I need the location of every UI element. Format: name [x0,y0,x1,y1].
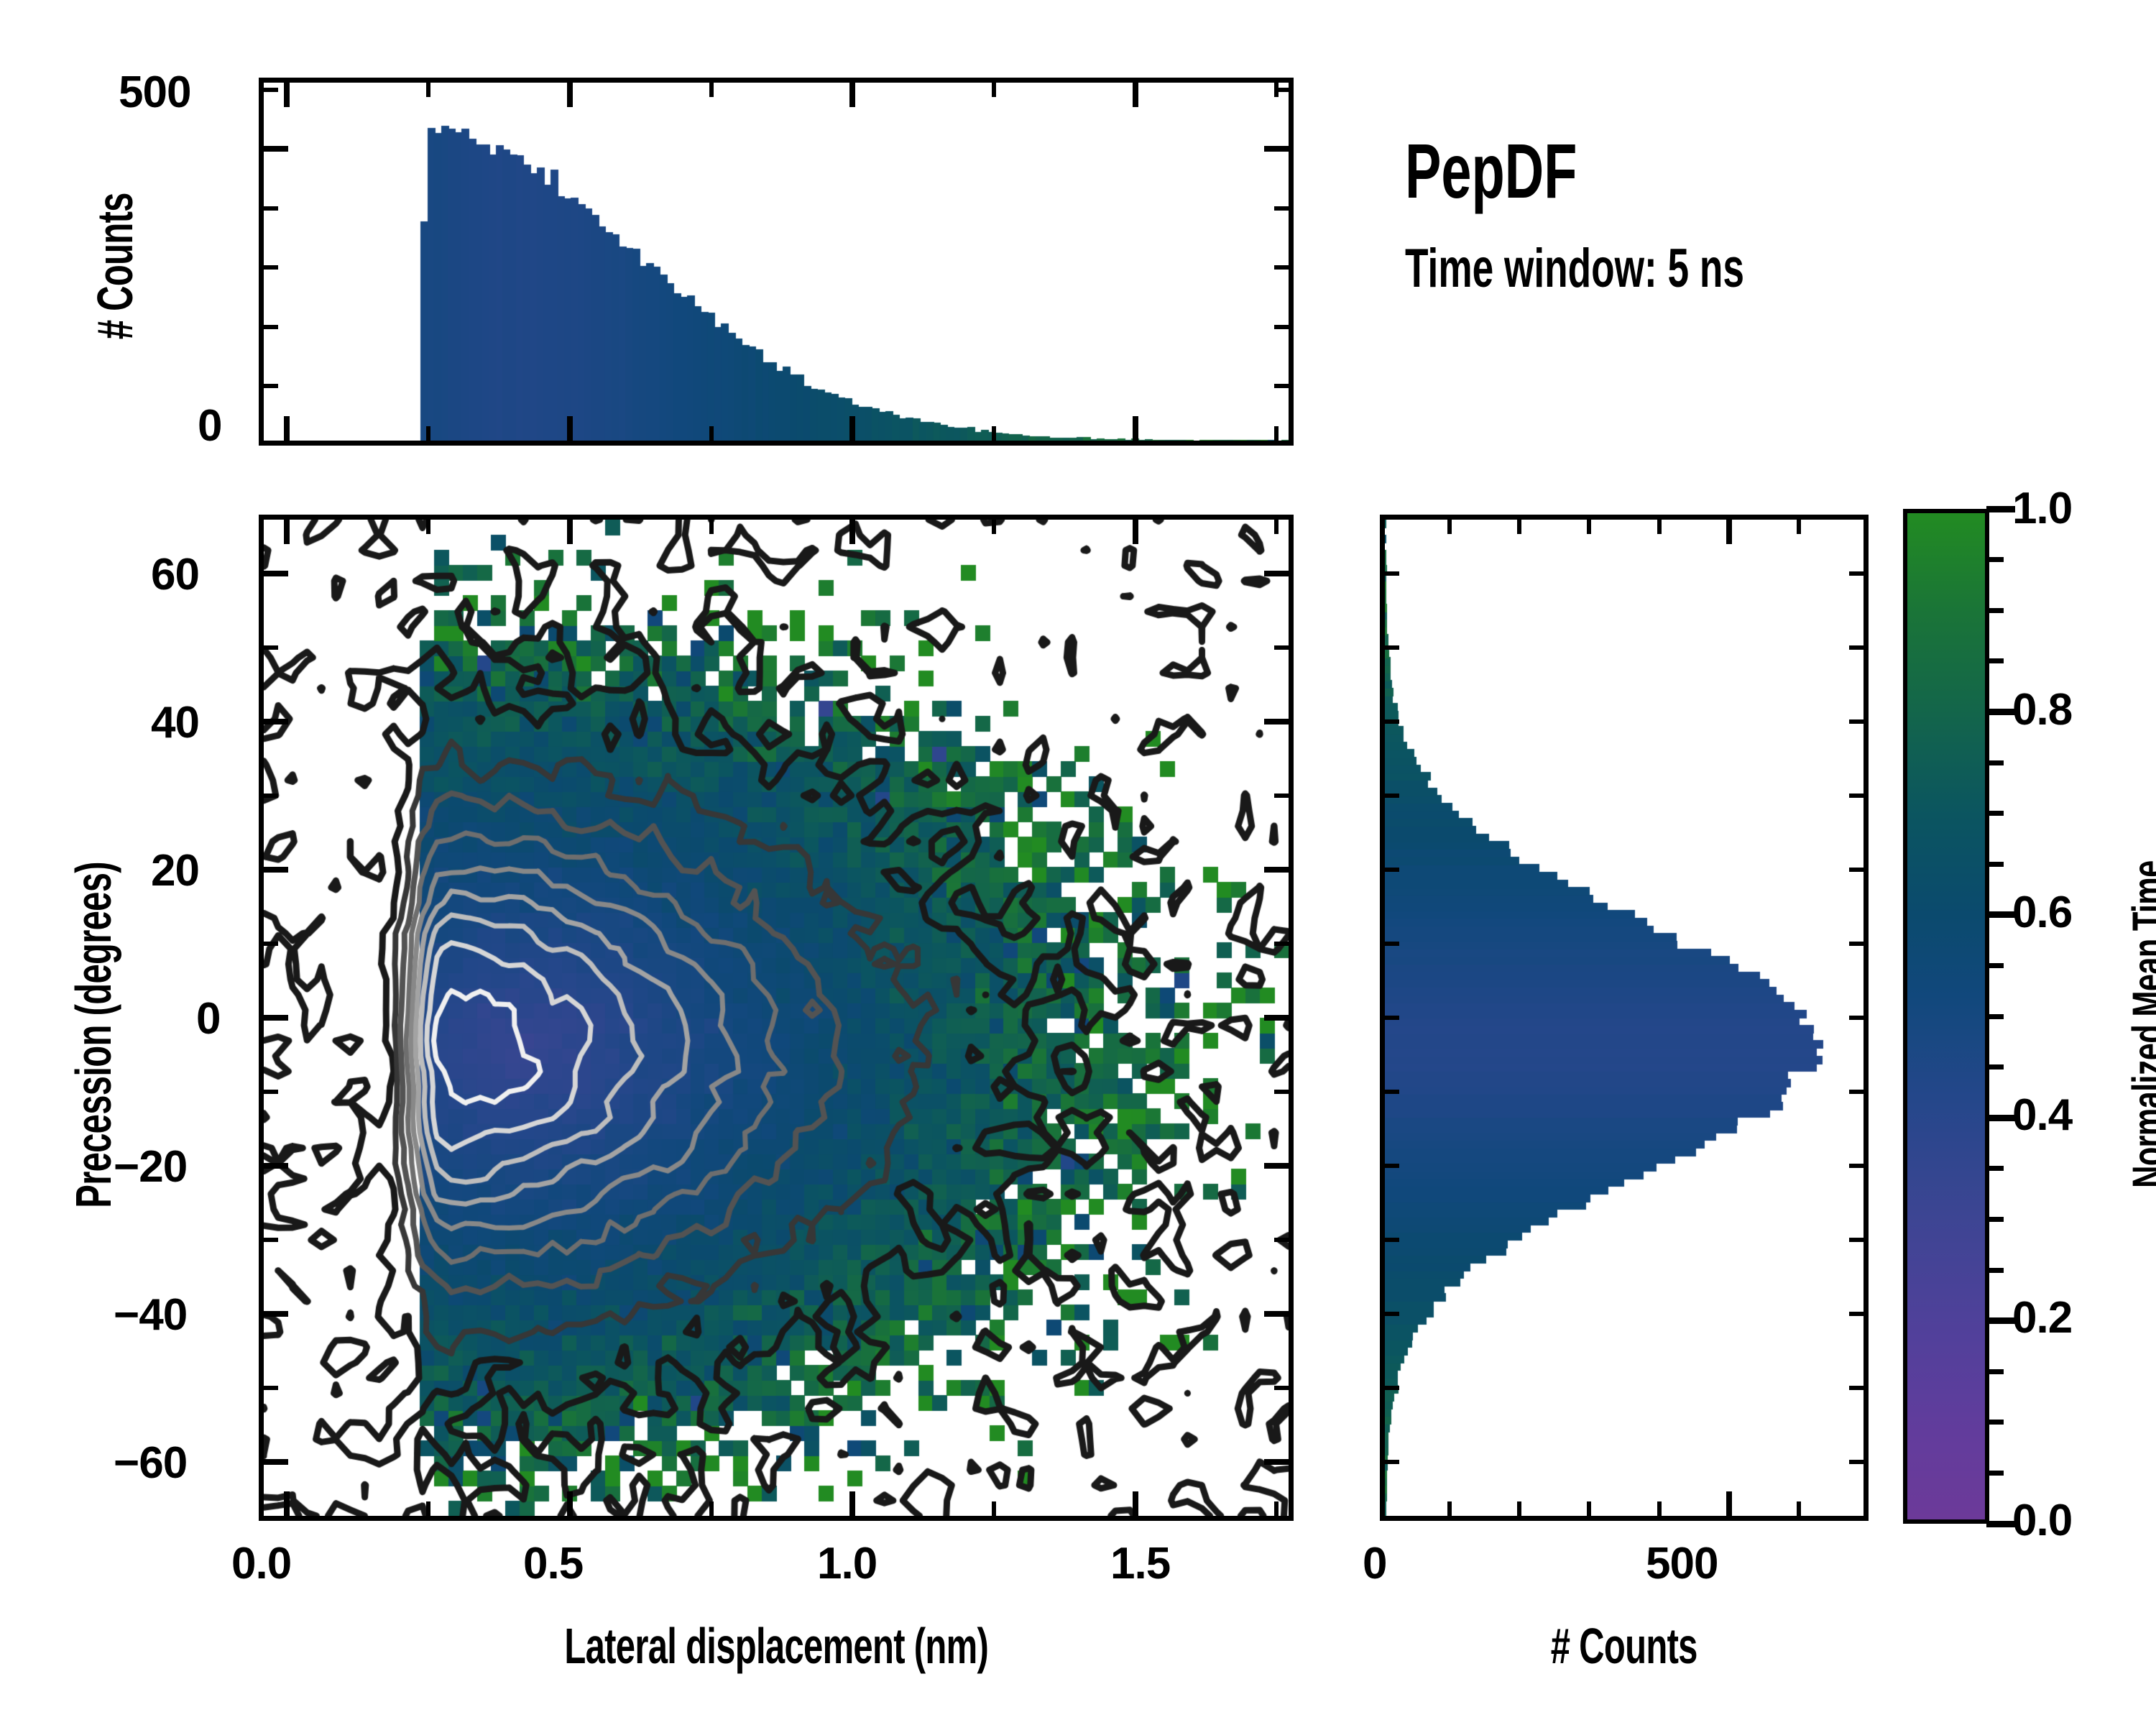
top-marginal-histogram-axes [259,78,1294,446]
main-ytick-right [1264,1311,1289,1317]
right-marginal-histogram-plot [1385,520,1864,1516]
main-ytick-right [1264,719,1289,724]
colorbar-major-tick [1986,1521,2015,1527]
main-ytick-right [1264,1163,1289,1169]
main-ytick-left [264,1163,288,1169]
joint-distribution-figure: 500 0 # Counts 60 40 20 0 −20 −40 −60 Pr… [0,0,2156,1725]
right-hist-xtick-bottom [1587,1501,1591,1516]
top-hist-ytick-right [1274,206,1289,211]
colorbar-major-tick [1986,506,2015,512]
colorbar-major-tick [1986,1115,2015,1121]
right-hist-ytick-right [1849,1386,1864,1390]
main-xtick-top [709,520,714,534]
colorbar-major-tick [1986,709,2015,715]
right-hist-ytick-right [1849,571,1864,576]
main-ytick-left [264,793,278,798]
main-ytick-left [264,1015,288,1021]
right-hist-xtick-0: 0 [1363,1538,1386,1589]
right-hist-ytick-left [1385,868,1399,872]
right-hist-xtick-top [1587,520,1591,534]
colorbar-minor-tick [1986,1369,2004,1374]
right-hist-ytick-left [1385,1016,1399,1020]
main-ytick-right [1274,942,1289,946]
main-xtick-bottom [1274,1501,1279,1516]
main-ytick-right [1274,645,1289,650]
top-hist-xtick-top [849,83,855,107]
top-hist-xtick-bottom [992,426,996,441]
main-xtick-top [567,520,573,544]
main-ytick-right [1264,571,1289,576]
top-hist-ytick-left [264,206,278,211]
top-hist-xtick-top [992,83,996,97]
colorbar-axes [1903,509,1989,1524]
top-hist-xtick-top [284,83,290,107]
main-xtick-bottom [849,1491,855,1516]
main-joint-plot-axes [259,515,1294,1521]
main-ytick-neg40: −40 [114,1289,187,1340]
colorbar-gradient [1907,513,1985,1519]
main-ylabel: Precession (degrees) [65,676,122,1394]
colorbar-minor-tick [1986,1268,2004,1273]
right-hist-xtick-top [1726,520,1732,544]
figure-title: PepDF [1405,126,1651,216]
main-xtick-0.5: 0.5 [523,1538,583,1589]
main-ytick-neg20: −20 [114,1141,187,1192]
right-hist-ytick-right [1849,1238,1864,1242]
figure-subtitle: Time window: 5 ns [1405,237,1889,300]
top-hist-xtick-bottom [849,416,855,441]
colorbar-minor-tick [1986,963,2004,968]
main-xtick-top [284,520,290,544]
top-hist-ylabel: # Counts [86,122,144,410]
top-hist-xtick-top [709,83,714,97]
main-ytick-left [264,867,288,873]
main-xtick-top [426,520,430,534]
colorbar-tick-0.2: 0.2 [2012,1292,2072,1343]
colorbar-tick-1.0: 1.0 [2012,483,2072,534]
top-hist-xtick-bottom [709,426,714,441]
right-hist-ytick-right [1849,942,1864,946]
right-hist-ytick-left [1385,645,1399,650]
main-ytick-left [264,1459,288,1465]
top-hist-ytick-0: 0 [198,400,221,451]
right-hist-ytick-left [1385,1460,1399,1464]
colorbar-tick-0.6: 0.6 [2012,887,2072,938]
colorbar-minor-tick [1986,1014,2004,1019]
right-hist-ytick-left [1385,1238,1399,1242]
main-xtick-top [1133,520,1138,544]
main-ytick-right [1274,1238,1289,1242]
right-hist-ytick-left [1385,1386,1399,1390]
colorbar-minor-tick [1986,760,2004,765]
top-hist-ytick-right [1274,325,1289,329]
right-hist-xtick-top [1657,520,1662,534]
right-hist-xtick-bottom [1726,1491,1732,1516]
main-ytick-60: 60 [151,549,199,600]
right-hist-ytick-right [1849,1312,1864,1316]
main-ytick-left [264,1238,278,1242]
colorbar-minor-tick [1986,608,2004,613]
colorbar-minor-tick [1986,862,2004,867]
colorbar-minor-tick [1986,1064,2004,1069]
top-hist-ytick-right [1274,265,1289,270]
top-hist-xtick-top [1133,83,1138,107]
main-ytick-right [1274,1386,1289,1390]
right-hist-ytick-right [1849,1460,1864,1464]
top-hist-ytick-right [1264,146,1289,152]
main-ytick-left [264,571,288,576]
colorbar-tick-0.8: 0.8 [2012,684,2072,735]
top-hist-xtick-bottom [1133,416,1138,441]
right-hist-ytick-right [1849,645,1864,650]
right-hist-ytick-right [1849,1016,1864,1020]
top-hist-ytick-left [264,265,278,270]
right-hist-xtick-bottom [1517,1501,1521,1516]
top-marginal-histogram-plot [264,83,1289,441]
right-hist-xtick-bottom [1657,1501,1662,1516]
right-hist-ytick-right [1849,868,1864,872]
colorbar-major-tick [1986,911,2015,918]
main-ytick-right [1264,1459,1289,1465]
right-hist-ytick-right [1849,793,1864,798]
top-hist-xtick-bottom [284,416,290,441]
main-xtick-top [849,520,855,544]
top-hist-xtick-top [426,83,430,97]
top-hist-xtick-bottom [1274,426,1279,441]
top-hist-ytick-left [264,146,288,152]
right-hist-xtick-top [1797,520,1801,534]
colorbar-minor-tick [1986,1420,2004,1425]
main-ytick-left [264,1386,278,1390]
main-ytick-left [264,1311,288,1317]
top-hist-ytick-right [1274,384,1289,388]
main-xtick-1.5: 1.5 [1110,1538,1170,1589]
main-xtick-top [992,520,996,534]
colorbar-major-tick [1986,1317,2015,1324]
main-ytick-right [1274,1090,1289,1094]
right-hist-ytick-left [1385,719,1399,724]
colorbar-minor-tick [1986,811,2004,816]
colorbar-minor-tick [1986,658,2004,663]
top-hist-xtick-top [567,83,573,107]
main-ytick-right [1264,867,1289,873]
colorbar-minor-tick [1986,557,2004,562]
right-hist-xtick-top [1517,520,1521,534]
top-hist-ytick-left [264,384,278,388]
top-hist-ytick-left [264,88,278,92]
main-ytick-40: 40 [151,697,199,748]
main-xtick-top [1274,520,1279,534]
right-hist-ytick-left [1385,793,1399,798]
main-xtick-1.0: 1.0 [817,1538,877,1589]
main-xtick-bottom [1133,1491,1138,1516]
main-ytick-20: 20 [151,845,199,896]
main-ytick-0: 0 [196,993,220,1044]
main-ytick-right [1264,1015,1289,1021]
right-hist-ytick-left [1385,942,1399,946]
main-ytick-neg60: −60 [114,1437,187,1489]
main-xtick-bottom [284,1491,290,1516]
right-hist-xtick-top [1447,520,1452,534]
right-hist-ytick-left [1385,1312,1399,1316]
main-xtick-bottom [426,1501,430,1516]
colorbar-minor-tick [1986,1471,2004,1476]
colorbar-minor-tick [1986,1217,2004,1222]
colorbar-label: Normalized Mean Time [2124,666,2156,1384]
main-ytick-left [264,719,288,724]
colorbar-tick-0.4: 0.4 [2012,1090,2072,1141]
main-ytick-right [1274,793,1289,798]
main-xtick-bottom [709,1501,714,1516]
colorbar-minor-tick [1986,1166,2004,1171]
right-hist-xlabel: # Counts [1380,1617,1869,1675]
top-hist-xtick-top [1274,83,1279,97]
main-xtick-bottom [567,1491,573,1516]
right-hist-ytick-left [1385,1164,1399,1168]
main-xlabel: Lateral displacement (nm) [259,1617,1294,1675]
right-hist-xtick-500: 500 [1646,1538,1718,1589]
right-marginal-histogram-axes [1380,515,1869,1521]
right-hist-ytick-right [1849,1090,1864,1094]
right-hist-ytick-right [1849,1164,1864,1168]
main-ytick-left [264,1090,278,1094]
top-hist-xtick-bottom [567,416,573,441]
right-hist-ytick-right [1849,719,1864,724]
main-ytick-left [264,942,278,946]
main-xtick-bottom [992,1501,996,1516]
right-hist-xtick-bottom [1797,1501,1801,1516]
right-hist-ytick-left [1385,571,1399,576]
right-hist-ytick-left [1385,1090,1399,1094]
top-hist-ytick-left [264,325,278,329]
joint-2d-histogram-plot [264,520,1289,1516]
colorbar-tick-0.0: 0.0 [2012,1495,2072,1546]
top-hist-xtick-bottom [426,426,430,441]
main-ytick-left [264,645,278,650]
right-hist-xtick-bottom [1447,1501,1452,1516]
top-hist-ytick-500: 500 [119,67,190,118]
main-xtick-0.0: 0.0 [231,1538,291,1589]
